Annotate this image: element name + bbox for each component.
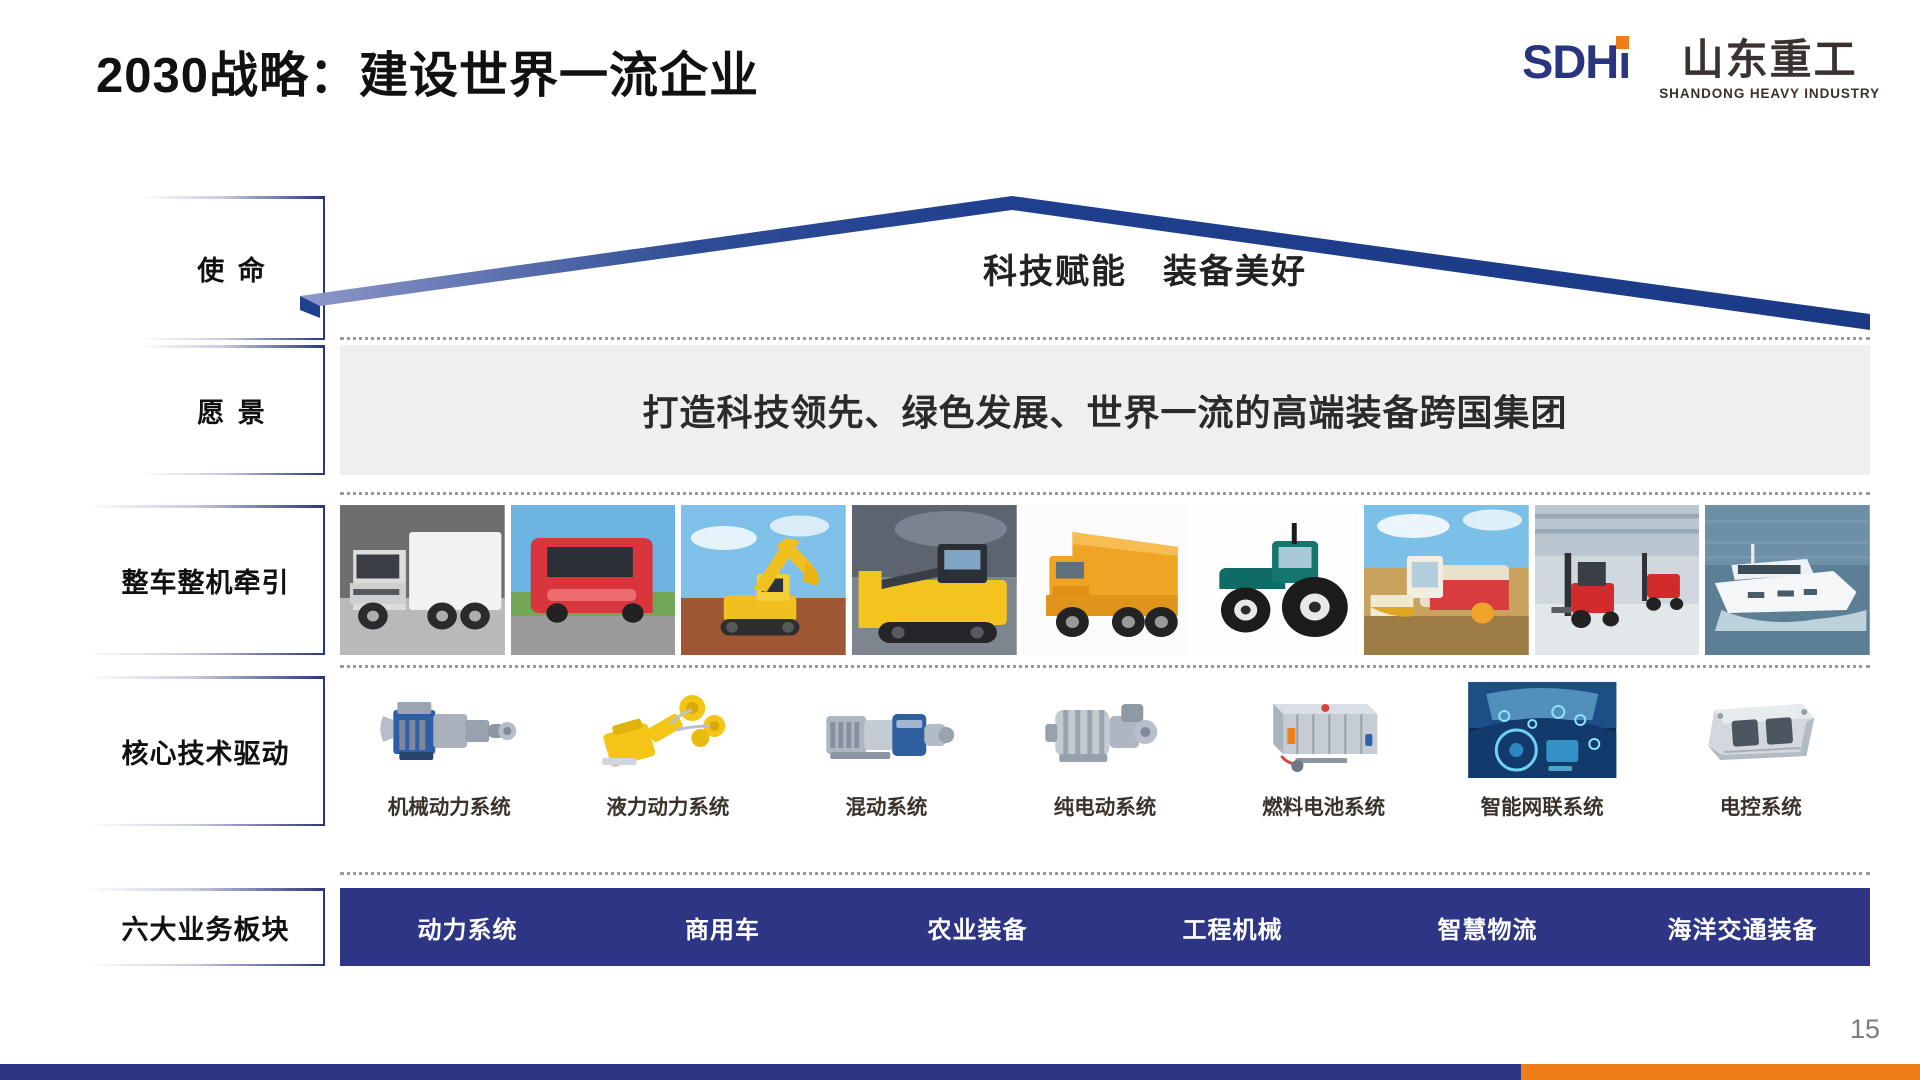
- fuel-cell-image: [1214, 676, 1433, 784]
- business-segment-item[interactable]: 动力系统: [340, 910, 595, 945]
- row-label-vision: 愿 景: [140, 345, 325, 475]
- tech-system-label: 智能网联系统: [1481, 790, 1604, 820]
- row-label-tech-text: 核心技术驱动: [122, 732, 290, 771]
- row-label-tech: 核心技术驱动: [86, 676, 325, 826]
- row-label-tech-bar: [323, 676, 326, 826]
- vision-statement: 打造科技领先、绿色发展、世界一流的高端装备跨国集团: [642, 384, 1567, 436]
- electronic-control-unit-image: [1651, 676, 1870, 784]
- vehicle-image-coach-bus: [511, 505, 676, 655]
- vehicle-image-yacht: [1705, 505, 1870, 655]
- tech-system-label: 纯电动系统: [1054, 790, 1157, 820]
- footer-bar: [0, 1064, 1920, 1080]
- tech-system-label: 机械动力系统: [388, 790, 511, 820]
- separator-mission-vision: [340, 337, 1870, 340]
- electric-drive-image: [996, 676, 1215, 784]
- logo-sdhi-mark: SDHi: [1522, 38, 1636, 85]
- footer-bar-orange: [1521, 1064, 1920, 1080]
- vehicle-image-forklift: [1535, 505, 1700, 655]
- hydraulic-powertrain-image: [559, 676, 778, 784]
- business-segment-item[interactable]: 农业装备: [850, 910, 1105, 945]
- row-label-business: 六大业务板块: [86, 888, 325, 966]
- tech-system-label: 液力动力系统: [606, 790, 729, 820]
- tech-system-item: 液力动力系统: [559, 676, 778, 826]
- mechanical-powertrain-image: [340, 676, 559, 784]
- row-label-vehicles-text: 整车整机牵引: [122, 561, 290, 600]
- vehicle-image-excavator: [681, 505, 846, 655]
- tech-system-label: 电控系统: [1720, 790, 1802, 820]
- hybrid-system-image: [777, 676, 996, 784]
- logo-en-name: SHANDONG HEAVY INDUSTRY: [1659, 86, 1880, 101]
- row-label-vehicles-bar: [323, 505, 326, 655]
- tech-system-item: 电控系统: [1651, 676, 1870, 826]
- business-segment-item[interactable]: 海洋交通装备: [1615, 910, 1870, 945]
- tech-system-item: 燃料电池系统: [1214, 676, 1433, 826]
- tech-system-row: 机械动力系统 液力动力系统: [340, 676, 1870, 826]
- row-label-business-bar: [323, 888, 326, 966]
- business-segment-item[interactable]: 商用车: [595, 910, 850, 945]
- logo-cn-name: 山东重工: [1682, 39, 1858, 82]
- page-title: 2030战略：建设世界一流企业: [96, 36, 759, 107]
- business-segment-item[interactable]: 工程机械: [1105, 910, 1360, 945]
- row-label-business-text: 六大业务板块: [122, 908, 290, 947]
- company-logo: SDHi 山东重工 SHANDONG HEAVY INDUSTRY: [1522, 38, 1880, 101]
- row-label-vision-text: 愿 景: [197, 391, 268, 430]
- connected-cockpit-image: [1433, 676, 1652, 784]
- row-label-mission-text: 使 命: [197, 249, 268, 288]
- vehicle-image-mining-dump-truck: [1023, 505, 1188, 655]
- business-segment-bar: 动力系统 商用车 农业装备 工程机械 智慧物流 海洋交通装备: [340, 888, 1870, 966]
- separator-tech-business: [340, 872, 1870, 875]
- tech-system-label: 燃料电池系统: [1262, 790, 1385, 820]
- vehicle-image-bulldozer: [852, 505, 1017, 655]
- row-label-mission: 使 命: [140, 196, 325, 340]
- footer-bar-navy: [0, 1064, 1521, 1080]
- business-segment-item[interactable]: 智慧物流: [1360, 910, 1615, 945]
- tech-system-item: 纯电动系统: [996, 676, 1215, 826]
- vision-band: 打造科技领先、绿色发展、世界一流的高端装备跨国集团: [340, 345, 1870, 475]
- tech-system-label: 混动系统: [845, 790, 927, 820]
- separator-vehicles-tech: [340, 665, 1870, 668]
- separator-vision-vehicles: [340, 492, 1870, 495]
- logo-divider: [1646, 38, 1649, 90]
- vehicle-image-row: [340, 505, 1870, 655]
- pyramid-roof: 科技赋能 装备美好: [300, 196, 1870, 340]
- row-label-vision-bar: [323, 345, 326, 475]
- page-number: 15: [1850, 1014, 1880, 1045]
- vehicle-image-combine-harvester: [1364, 505, 1529, 655]
- mission-statement: 科技赋能 装备美好: [300, 196, 1870, 340]
- tech-system-item: 智能网联系统: [1433, 676, 1652, 826]
- vehicle-image-tractor: [1193, 505, 1358, 655]
- tech-system-item: 混动系统: [777, 676, 996, 826]
- logo-sdhi-text: SDH: [1522, 35, 1618, 88]
- row-label-vehicles: 整车整机牵引: [86, 505, 325, 655]
- logo-i-dot-icon: [1616, 36, 1629, 49]
- slide-2030-strategy: 2030战略：建设世界一流企业 SDHi 山东重工 SHANDONG HEAVY…: [0, 0, 1920, 1080]
- vehicle-image-heavy-truck: [340, 505, 505, 655]
- tech-system-item: 机械动力系统: [340, 676, 559, 826]
